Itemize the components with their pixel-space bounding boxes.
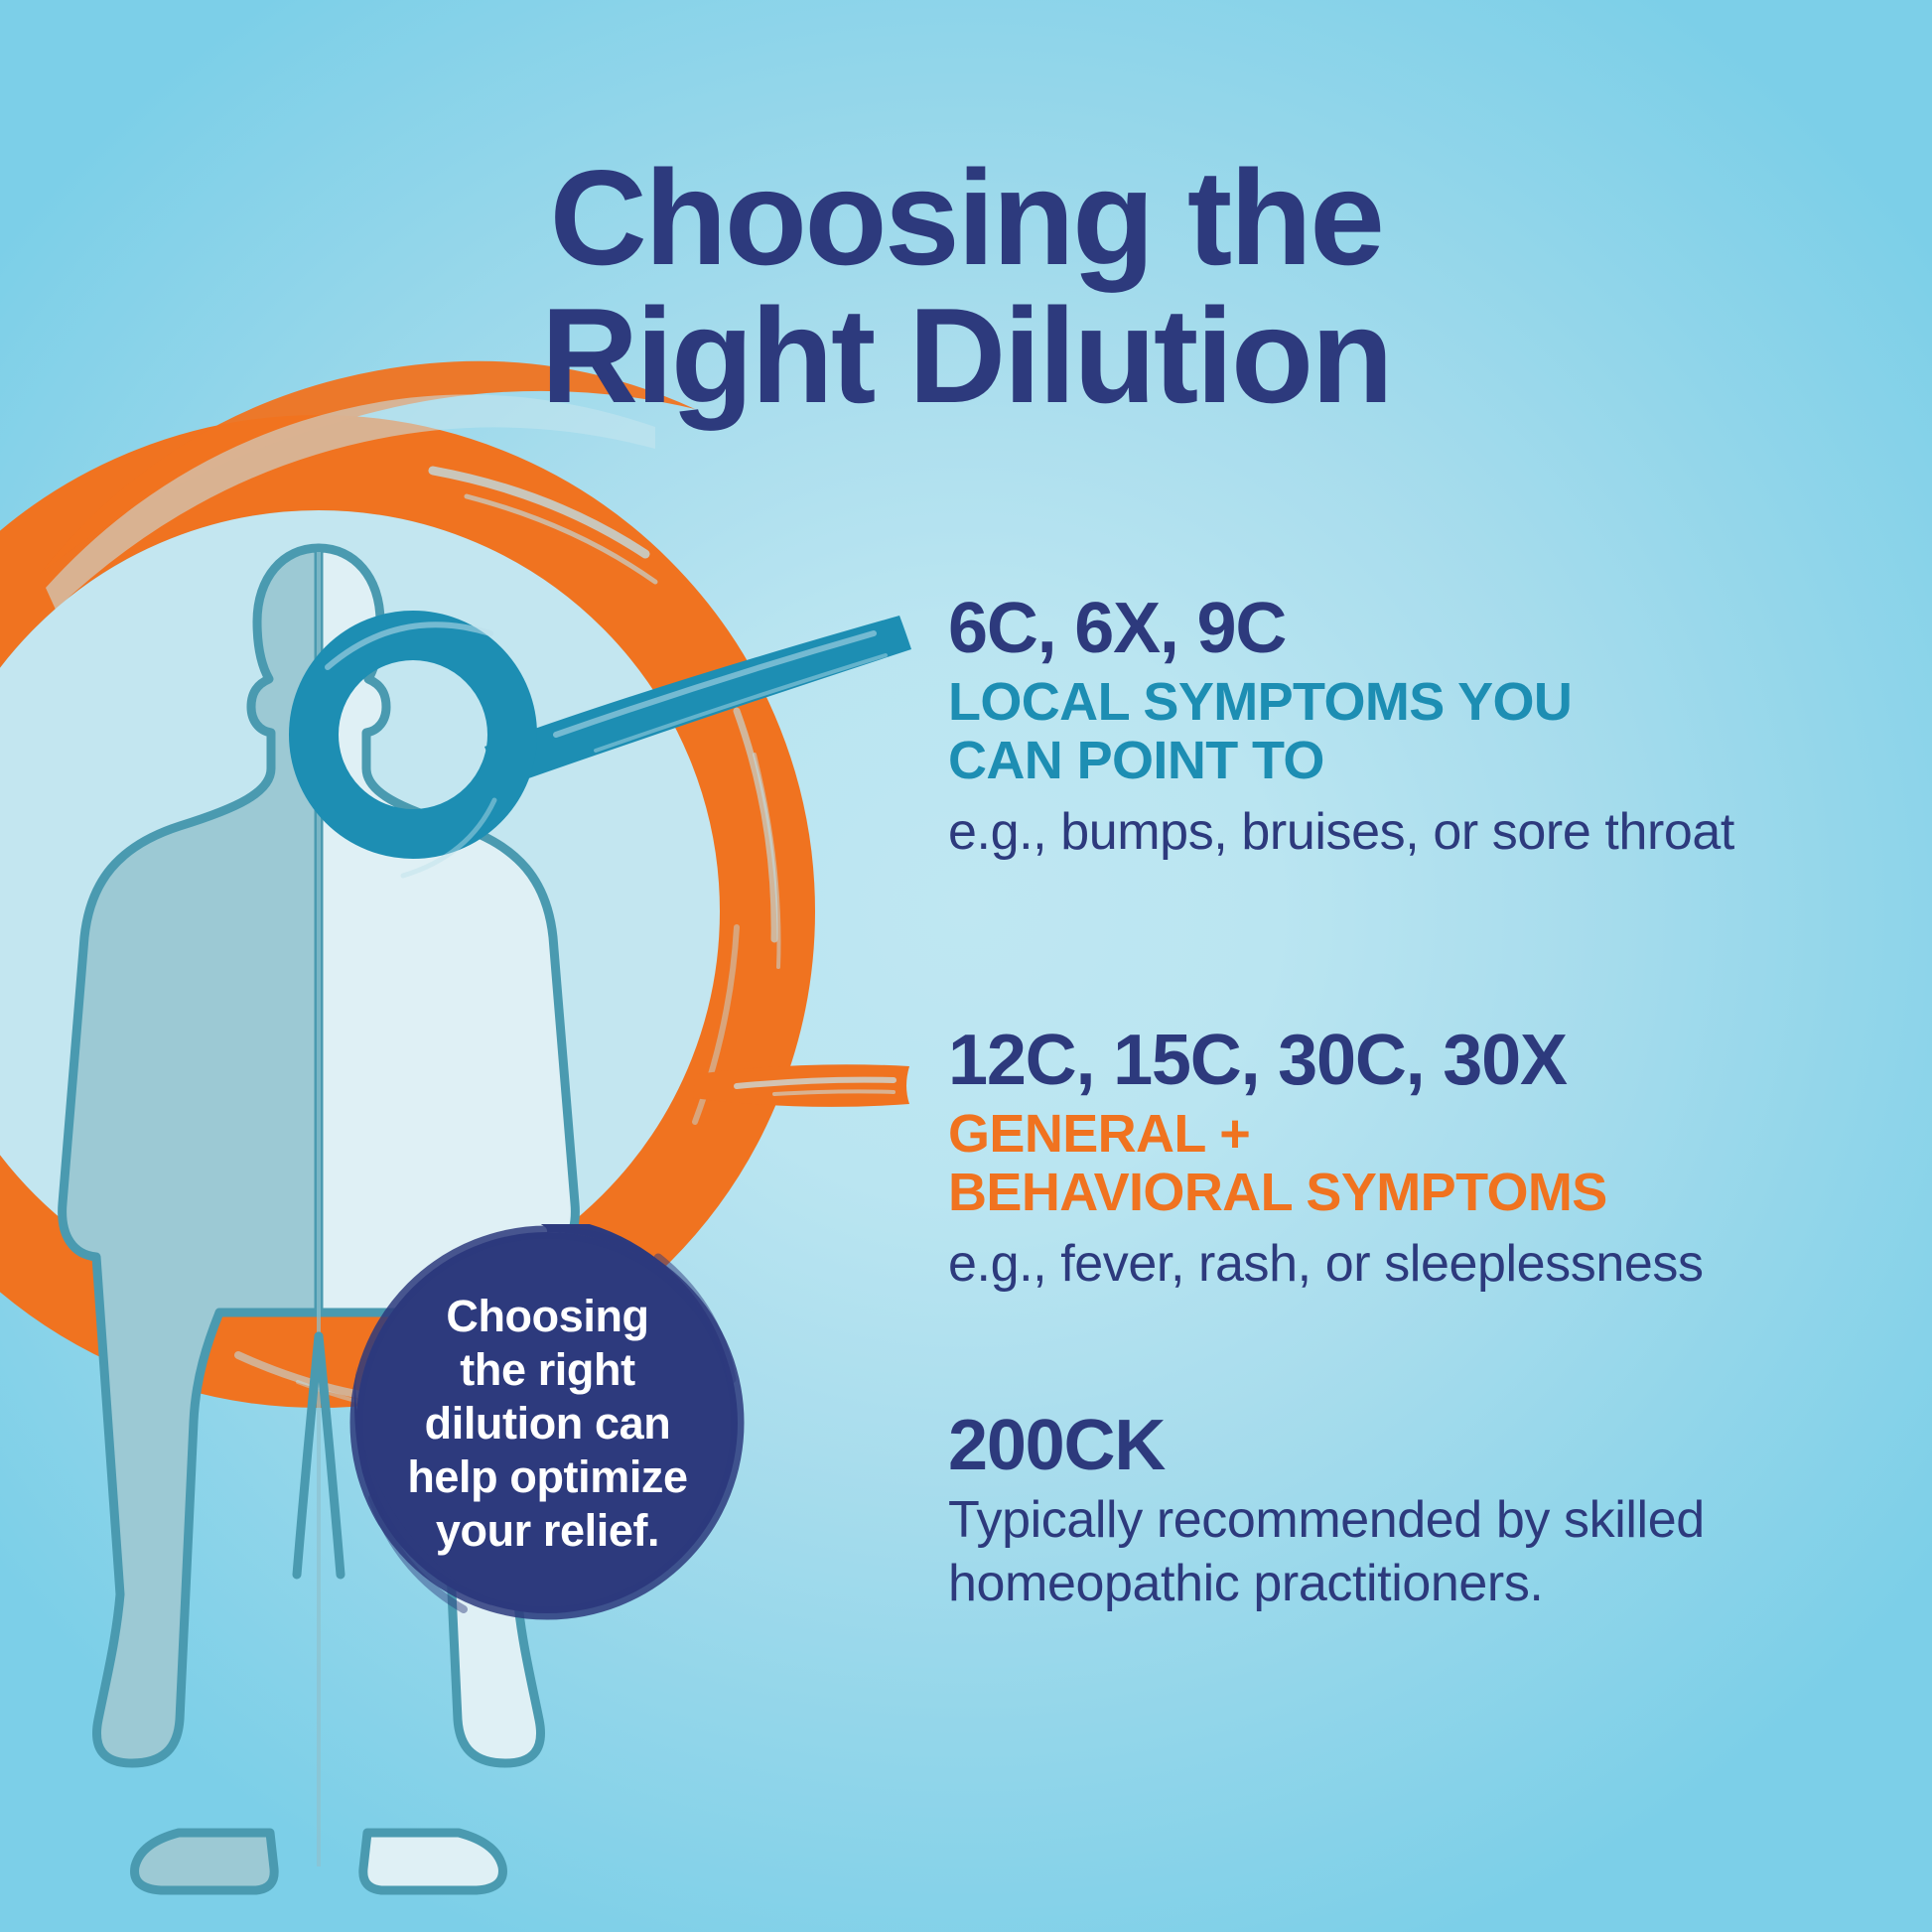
dilution-subhead-line-1: LOCAL SYMPTOMS YOU bbox=[948, 673, 1901, 731]
dilution-block-general: 12C, 15C, 30C, 30X GENERAL + BEHAVIORAL … bbox=[948, 1023, 1901, 1294]
badge-line-5: your relief. bbox=[436, 1504, 659, 1558]
human-body-silhouette-icon bbox=[63, 548, 576, 1890]
badge-line-4: help optimize bbox=[407, 1450, 687, 1504]
dilution-example: e.g., bumps, bruises, or sore throat bbox=[948, 802, 1901, 862]
dilution-subhead: LOCAL SYMPTOMS YOU CAN POINT TO bbox=[948, 673, 1901, 789]
dilution-potencies: 12C, 15C, 30C, 30X bbox=[948, 1023, 1901, 1098]
dilution-potencies: 200CK bbox=[948, 1408, 1901, 1483]
dilution-example: e.g., fever, rash, or sleeplessness bbox=[948, 1234, 1901, 1294]
page-title-line-2: Right Dilution bbox=[0, 287, 1932, 425]
orange-brush-connector-icon bbox=[693, 1064, 909, 1107]
dilution-body: Typically recommended by skilled homeopa… bbox=[948, 1489, 1822, 1615]
dilution-body-line-1: Typically recommended by skilled bbox=[948, 1489, 1822, 1552]
page-title-line-1: Choosing the bbox=[0, 149, 1932, 287]
ring-inner-disc bbox=[0, 510, 720, 1312]
badge-line-1: Choosing bbox=[446, 1290, 648, 1343]
dilution-potencies: 6C, 6X, 9C bbox=[948, 591, 1901, 666]
badge-text: Choosing the right dilution can help opt… bbox=[348, 1224, 747, 1622]
dilution-body-line-2: homeopathic practitioners. bbox=[948, 1553, 1822, 1615]
dilution-subhead: GENERAL + BEHAVIORAL SYMPTOMS bbox=[948, 1105, 1901, 1221]
dilution-subhead-line-1: GENERAL + bbox=[948, 1105, 1901, 1163]
dilution-block-practitioner: 200CK Typically recommended by skilled h… bbox=[948, 1408, 1901, 1615]
page-title: Choosing the Right Dilution bbox=[0, 149, 1932, 424]
badge-line-3: dilution can bbox=[425, 1397, 671, 1450]
dilution-subhead-line-2: BEHAVIORAL SYMPTOMS bbox=[948, 1164, 1901, 1221]
dilution-subhead-line-2: CAN POINT TO bbox=[948, 732, 1901, 789]
badge-line-2: the right bbox=[460, 1343, 634, 1397]
dilution-block-local: 6C, 6X, 9C LOCAL SYMPTOMS YOU CAN POINT … bbox=[948, 591, 1901, 862]
callout-badge: Choosing the right dilution can help opt… bbox=[348, 1224, 747, 1622]
magnifying-glass-icon bbox=[314, 616, 911, 876]
infographic-canvas: Choosing the Right Dilution Choosing the… bbox=[0, 0, 1932, 1932]
